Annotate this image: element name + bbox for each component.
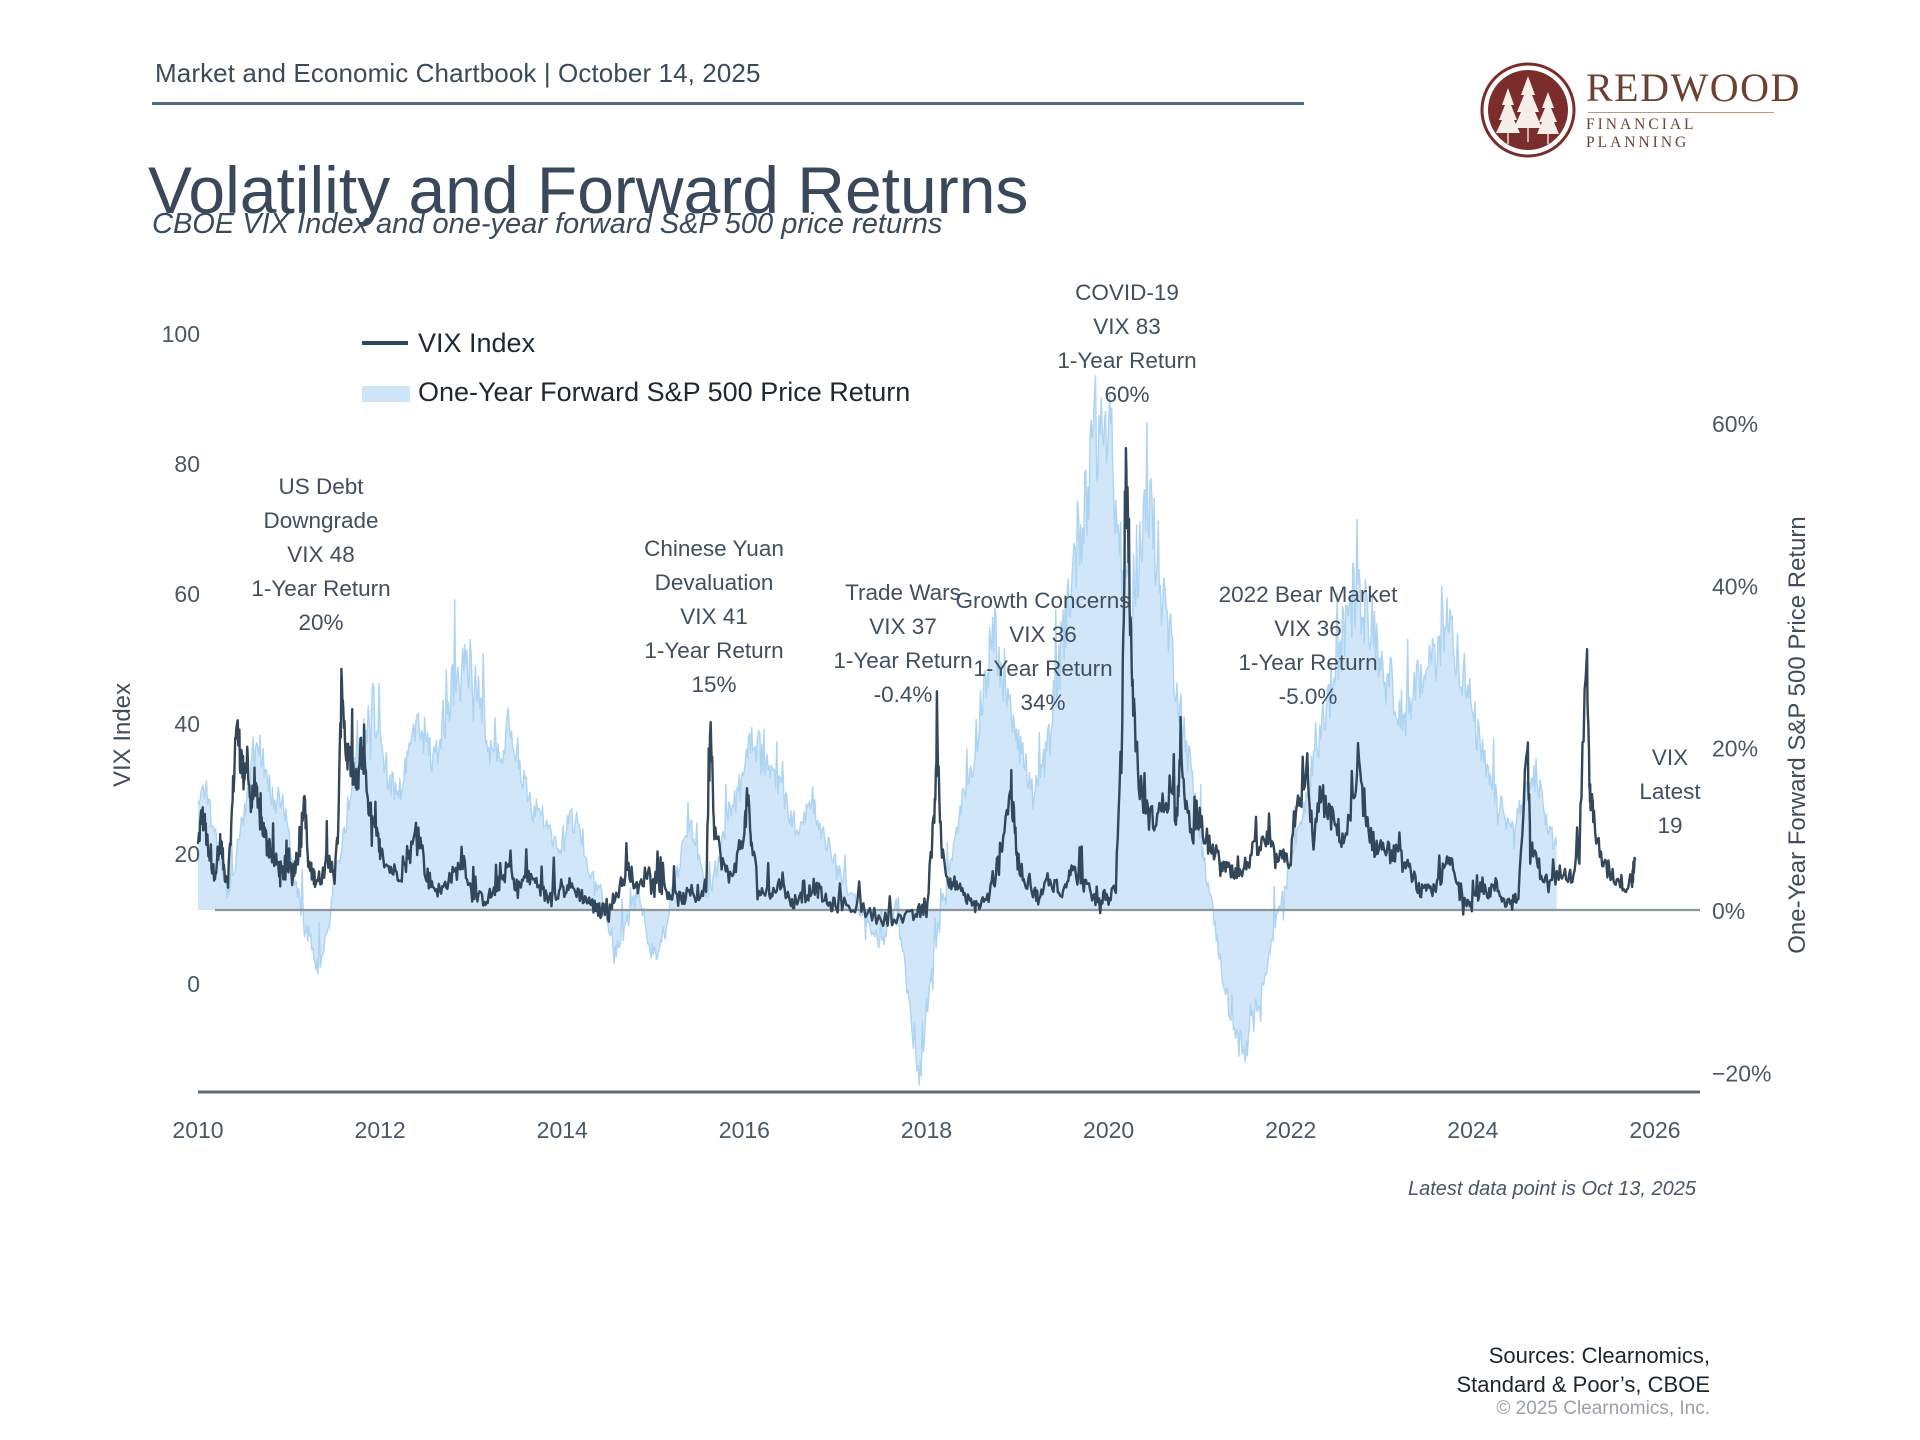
- right-axis-tick-labels: −20%0%20%40%60%: [1712, 411, 1771, 1086]
- annotation-line: 1-Year Return: [833, 648, 972, 673]
- annotation-line: COVID-19: [1075, 280, 1179, 305]
- right-axis-tick-0: −20%: [1712, 1060, 1771, 1086]
- annotation-line: Devaluation: [655, 570, 774, 595]
- x-axis-tick-labels: 201020122014201620182020202220242026: [172, 1117, 1680, 1143]
- annotation-covid-19: COVID-19VIX 831-Year Return60%: [1057, 280, 1196, 407]
- annotation-line: Chinese Yuan: [644, 536, 784, 561]
- sources-note: Sources: Clearnomics, Standard & Poor’s,…: [1456, 1342, 1710, 1399]
- legend-label-forward-return: One-Year Forward S&P 500 Price Return: [418, 377, 910, 407]
- latest-data-point-note: Latest data point is Oct 13, 2025: [1408, 1178, 1696, 1201]
- left-axis-tick-80: 80: [174, 451, 200, 477]
- right-axis-title: One-Year Forward S&P 500 Price Return: [1784, 516, 1811, 954]
- annotation-line: 2022 Bear Market: [1219, 582, 1399, 607]
- annotation-line: VIX 36: [1274, 616, 1342, 641]
- annotation-line: VIX 41: [680, 604, 748, 629]
- sources-line-1: Sources: Clearnomics,: [1456, 1342, 1710, 1371]
- annotation-line: 15%: [691, 672, 736, 697]
- right-axis-tick-3: 40%: [1712, 573, 1758, 599]
- annotation-line: 1-Year Return: [1238, 650, 1377, 675]
- legend-label-vix-index: VIX Index: [418, 328, 536, 358]
- annotation-line: 1-Year Return: [1057, 348, 1196, 373]
- x-axis-tick-2016: 2016: [719, 1117, 770, 1143]
- x-axis-tick-2022: 2022: [1265, 1117, 1316, 1143]
- annotation-line: Growth Concerns: [955, 588, 1130, 613]
- left-axis-tick-labels: 020406080100: [162, 321, 200, 997]
- left-axis-tick-20: 20: [174, 841, 200, 867]
- left-axis-tick-40: 40: [174, 711, 200, 737]
- annotation-line: VIX: [1652, 745, 1688, 770]
- annotation-line: 19: [1657, 813, 1682, 838]
- annotation-us-debt-downgrade: US DebtDowngradeVIX 481-Year Return20%: [251, 474, 390, 635]
- volatility-forward-returns-chart: 020406080100 −20%0%20%40%60% 20102012201…: [0, 0, 1920, 1440]
- right-axis-tick-4: 60%: [1712, 411, 1758, 437]
- left-axis-title: VIX Index: [109, 683, 136, 787]
- chart-legend: VIX Index One-Year Forward S&P 500 Price…: [362, 328, 910, 407]
- annotation-line: VIX 83: [1093, 314, 1161, 339]
- x-axis-tick-2010: 2010: [172, 1117, 223, 1143]
- annotation-vix-latest: VIXLatest19: [1639, 745, 1701, 838]
- annotation-line: 1-Year Return: [973, 656, 1112, 681]
- x-axis-tick-2026: 2026: [1629, 1117, 1680, 1143]
- left-axis-tick-0: 0: [187, 971, 200, 997]
- x-axis-tick-2018: 2018: [901, 1117, 952, 1143]
- annotation-line: US Debt: [278, 474, 364, 499]
- x-axis-tick-2024: 2024: [1447, 1117, 1498, 1143]
- left-axis-tick-60: 60: [174, 581, 200, 607]
- annotation-line: -5.0%: [1279, 684, 1338, 709]
- annotation-chinese-yuan-devaluation: Chinese YuanDevaluationVIX 411-Year Retu…: [644, 536, 784, 697]
- annotation-line: Downgrade: [263, 508, 378, 533]
- annotation-line: VIX 48: [287, 542, 355, 567]
- x-axis-tick-2020: 2020: [1083, 1117, 1134, 1143]
- annotation-line: -0.4%: [874, 682, 933, 707]
- annotation-line: 1-Year Return: [644, 638, 783, 663]
- annotation-line: 60%: [1104, 382, 1149, 407]
- x-axis-tick-2012: 2012: [355, 1117, 406, 1143]
- right-axis-tick-1: 0%: [1712, 898, 1745, 924]
- annotation-line: 20%: [298, 610, 343, 635]
- left-axis-tick-100: 100: [162, 321, 200, 347]
- x-axis-tick-2014: 2014: [537, 1117, 588, 1143]
- sources-line-2: Standard & Poor’s, CBOE: [1456, 1371, 1710, 1400]
- annotation-line: VIX 36: [1009, 622, 1077, 647]
- annotation-line: 1-Year Return: [251, 576, 390, 601]
- copyright-note: © 2025 Clearnomics, Inc.: [1496, 1398, 1710, 1420]
- right-axis-tick-2: 20%: [1712, 736, 1758, 762]
- annotation-line: Trade Wars: [845, 580, 961, 605]
- annotation-line: VIX 37: [869, 614, 937, 639]
- legend-swatch-forward-return: [362, 386, 410, 402]
- annotation-line: 34%: [1020, 690, 1065, 715]
- forward-return-area-series: [198, 375, 1557, 1085]
- annotation-line: Latest: [1639, 779, 1701, 804]
- annotation-trade-wars: Trade WarsVIX 371-Year Return-0.4%: [833, 580, 972, 707]
